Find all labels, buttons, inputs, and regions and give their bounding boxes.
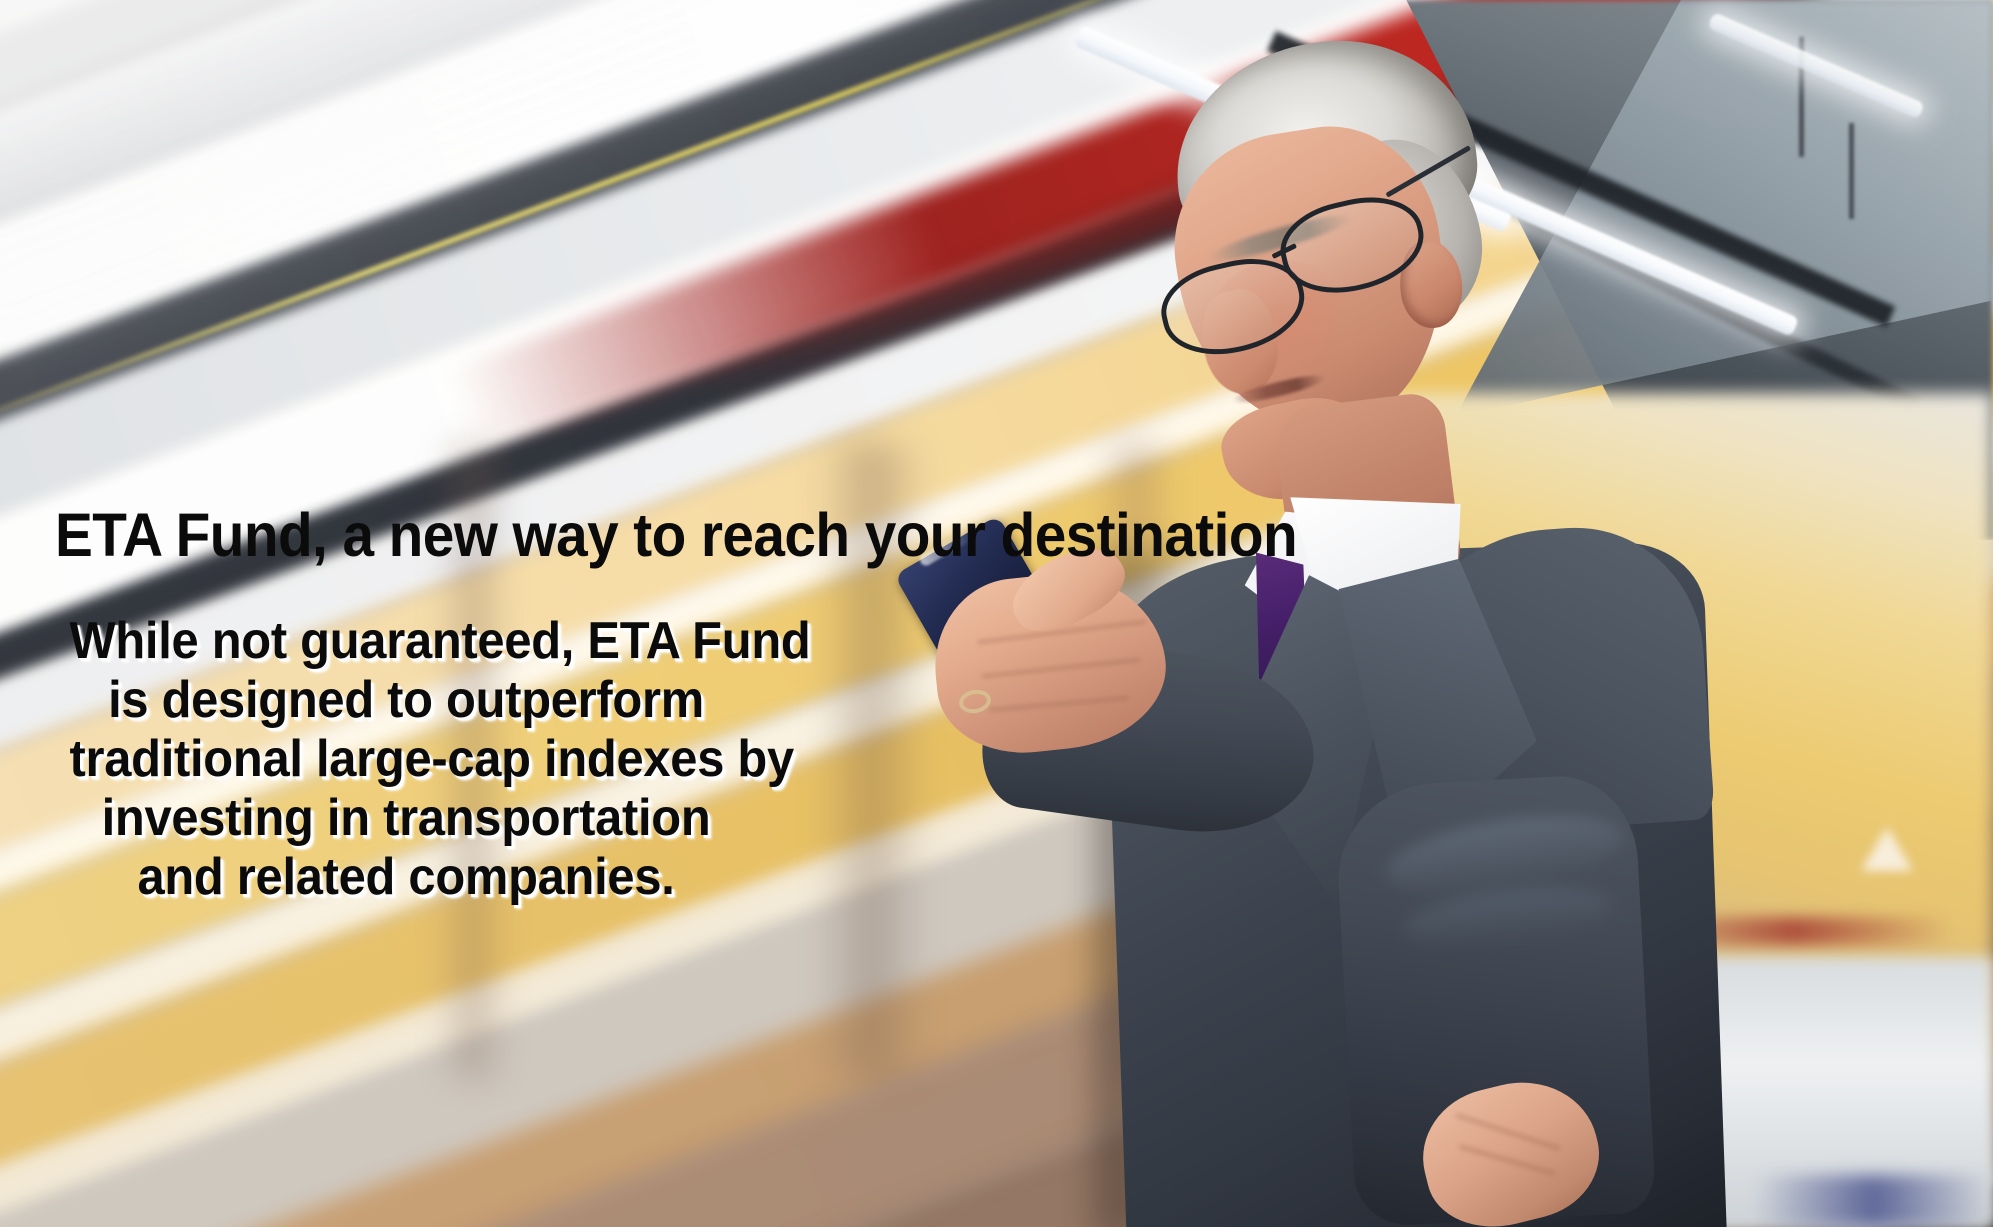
- advertisement-slide: ETA Fund, a new way to reach your destin…: [0, 0, 1993, 1227]
- body-copy-line: While not guaranteed, ETA Fund: [69, 612, 742, 671]
- body-copy-line: traditional large-cap indexes by: [69, 730, 742, 789]
- body-copy-line: is designed to outperform: [69, 671, 742, 730]
- body-copy-line: investing in transportation: [69, 789, 742, 848]
- light-hanger-rod-2: [1849, 123, 1854, 219]
- body-copy-line: and related companies.: [69, 848, 742, 907]
- body-copy: While not guaranteed, ETA Fund is design…: [69, 612, 742, 907]
- warning-triangle-sign: [1861, 827, 1913, 871]
- headline: ETA Fund, a new way to reach your destin…: [55, 500, 1297, 570]
- blue-sign-blur: [1754, 1175, 1993, 1227]
- businessman-figure: [1055, 0, 1675, 1227]
